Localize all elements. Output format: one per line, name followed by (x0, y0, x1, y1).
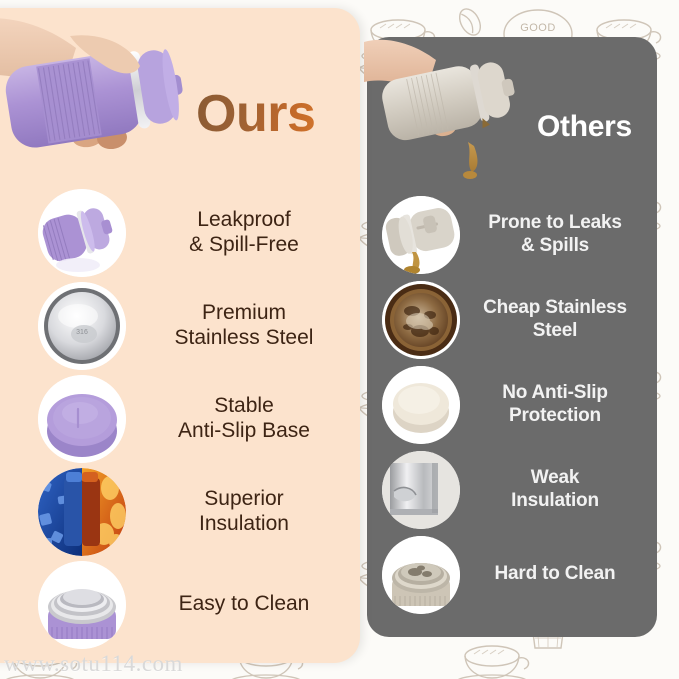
feature-line-1: Hard to Clean (470, 563, 640, 585)
feature-label-premium-steel: Premium Stainless Steel (134, 301, 354, 350)
feature-line-2: & Spill-Free (138, 233, 350, 257)
feature-line-1: No Anti-Slip (470, 382, 640, 404)
feature-line-2: Protection (470, 405, 640, 427)
ours-feature-list: Leakproof & Spill-Free (34, 186, 354, 651)
feature-label-anti-slip-base: Stable Anti-Slip Base (134, 394, 354, 443)
watermark-url: www.sotu114.com (4, 651, 183, 677)
others-feature-list: Prone to Leaks & Spills (382, 192, 644, 617)
feature-label-prone-to-leaks: Prone to Leaks & Spills (466, 212, 644, 256)
feature-row-easy-to-clean: Easy to Clean (34, 558, 354, 651)
feature-line-2: Insulation (138, 512, 350, 536)
feature-row-hard-to-clean: Hard to Clean (382, 532, 644, 617)
feature-row-weak-insulation: Weak Insulation (382, 447, 644, 532)
feature-row-premium-steel: 316 Premium Stainless Steel (34, 279, 354, 372)
thumb-thin-single-wall (382, 451, 460, 529)
feature-line-1: Stable (138, 394, 350, 418)
thumb-narrow-dirty-opening (382, 536, 460, 614)
thumb-leaking-lid-closeup (382, 196, 460, 274)
ours-title: Ours (196, 84, 315, 144)
feature-line-2: & Spills (470, 235, 640, 257)
feature-row-cheap-steel: Cheap Stainless Steel (382, 277, 644, 362)
others-title: Others (537, 110, 632, 144)
feature-label-leakproof: Leakproof & Spill-Free (134, 208, 354, 257)
feature-line-1: Weak (470, 467, 640, 489)
feature-row-anti-slip-base: Stable Anti-Slip Base (34, 372, 354, 465)
feature-row-prone-to-leaks: Prone to Leaks & Spills (382, 192, 644, 277)
feature-label-no-anti-slip: No Anti-Slip Protection (466, 382, 644, 426)
feature-line-2: Steel (470, 320, 640, 342)
thumb-purple-anti-slip-base (38, 375, 126, 463)
feature-label-cheap-steel: Cheap Stainless Steel (466, 297, 644, 341)
thumb-wide-mouth-opening (38, 561, 126, 649)
feature-row-superior-insulation: Superior Insulation (34, 465, 354, 558)
feature-label-weak-insulation: Weak Insulation (466, 467, 644, 511)
comparison-infographic: GOOD MORNING (0, 0, 679, 679)
feature-label-hard-to-clean: Hard to Clean (466, 563, 644, 585)
thumb-purple-lid-closeup (38, 189, 126, 277)
feature-line-2: Anti-Slip Base (138, 419, 350, 443)
feature-label-easy-to-clean: Easy to Clean (134, 592, 354, 616)
svg-text:316: 316 (76, 329, 88, 336)
feature-row-no-anti-slip: No Anti-Slip Protection (382, 362, 644, 447)
feature-label-superior-insulation: Superior Insulation (134, 487, 354, 536)
feature-line-1: Leakproof (138, 208, 350, 232)
thumb-plain-smooth-base (382, 366, 460, 444)
feature-line-1: Premium (138, 301, 350, 325)
feature-line-1: Superior (138, 487, 350, 511)
feature-line-2: Insulation (470, 490, 640, 512)
feature-line-1: Prone to Leaks (470, 212, 640, 234)
thumb-hot-cold-insulation (38, 468, 126, 556)
feature-line-2: Stainless Steel (138, 326, 350, 350)
feature-line-1: Cheap Stainless (470, 297, 640, 319)
feature-line-1: Easy to Clean (138, 592, 350, 616)
thumb-rusty-stained-interior (382, 281, 460, 359)
thumb-stainless-steel-interior: 316 (38, 282, 126, 370)
feature-row-leakproof: Leakproof & Spill-Free (34, 186, 354, 279)
